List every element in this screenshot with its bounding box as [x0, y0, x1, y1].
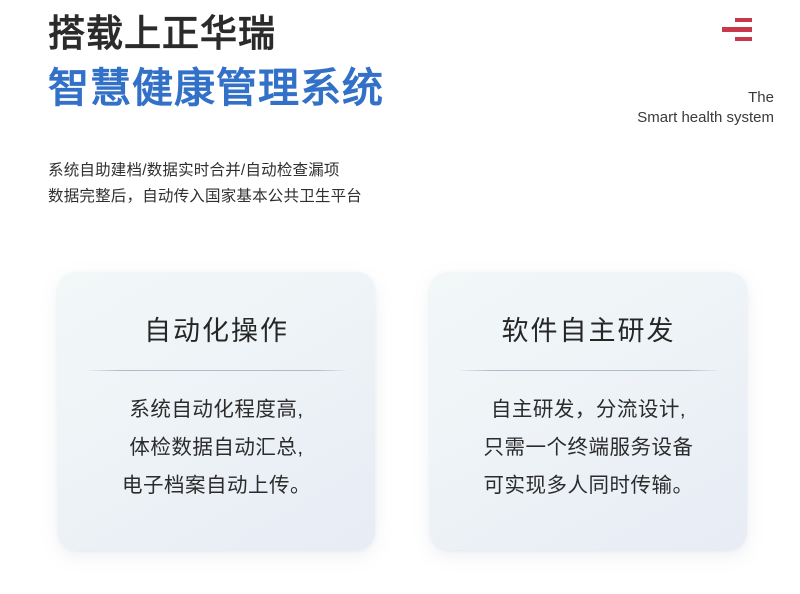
card-divider [88, 370, 346, 371]
feature-cards-row: 自动化操作 系统自动化程度高, 体检数据自动汇总, 电子档案自动上传。 软件自主… [58, 272, 748, 552]
card-body-line-3: 电子档案自动上传。 [86, 467, 347, 505]
card-body-line-1: 自主研发，分流设计, [458, 391, 719, 429]
bar-top-icon [735, 18, 752, 22]
card-body: 自主研发，分流设计, 只需一个终端服务设备 可实现多人同时传输。 [458, 391, 719, 505]
page-title-primary: 搭载上正华瑞 [48, 12, 568, 56]
english-caption: The Smart health system [637, 88, 774, 128]
subtitle-line-1: 系统自助建档/数据实时合并/自动检查漏项 [48, 158, 362, 184]
card-body-line-2: 体检数据自动汇总, [86, 429, 347, 467]
card-title: 自动化操作 [86, 314, 347, 348]
feature-card-self-developed: 软件自主研发 自主研发，分流设计, 只需一个终端服务设备 可实现多人同时传输。 [430, 272, 747, 550]
english-caption-line2: Smart health system [637, 108, 774, 128]
english-caption-line1: The [637, 88, 774, 108]
card-divider [460, 370, 718, 371]
card-body-line-2: 只需一个终端服务设备 [458, 429, 719, 467]
header-title-block: 搭载上正华瑞 智慧健康管理系统 [48, 12, 568, 114]
card-title: 软件自主研发 [458, 314, 719, 348]
card-body-line-1: 系统自动化程度高, [86, 391, 347, 429]
feature-card-automation: 自动化操作 系统自动化程度高, 体检数据自动汇总, 电子档案自动上传。 [58, 272, 375, 550]
page-title-secondary: 智慧健康管理系统 [48, 62, 568, 114]
subtitle-description: 系统自助建档/数据实时合并/自动检查漏项 数据完整后，自动传入国家基本公共卫生平… [48, 158, 362, 210]
bar-middle-icon [722, 27, 752, 32]
three-red-bars-icon [722, 16, 752, 44]
bar-bottom-icon [735, 37, 752, 41]
card-body-line-3: 可实现多人同时传输。 [458, 467, 719, 505]
card-body: 系统自动化程度高, 体检数据自动汇总, 电子档案自动上传。 [86, 391, 347, 505]
poster-page: 搭载上正华瑞 智慧健康管理系统 The Smart health system … [0, 0, 800, 594]
subtitle-line-2: 数据完整后，自动传入国家基本公共卫生平台 [48, 184, 362, 210]
